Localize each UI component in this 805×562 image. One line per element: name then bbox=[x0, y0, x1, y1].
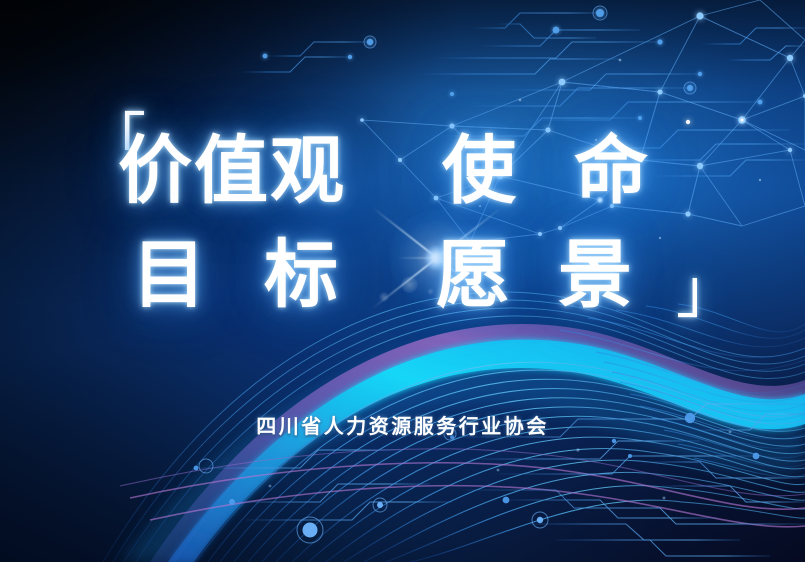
lens-flare-orb-2 bbox=[379, 292, 389, 302]
star-core bbox=[424, 245, 450, 271]
promo-banner: 「 价值观使命 目标愿景 」 四川省人力资源服务行业协会 bbox=[0, 0, 805, 562]
lens-flare-orb-3 bbox=[427, 288, 434, 295]
organization-name: 四川省人力资源服务行业协会 bbox=[0, 410, 805, 439]
lens-flare-orb-1 bbox=[401, 276, 418, 293]
